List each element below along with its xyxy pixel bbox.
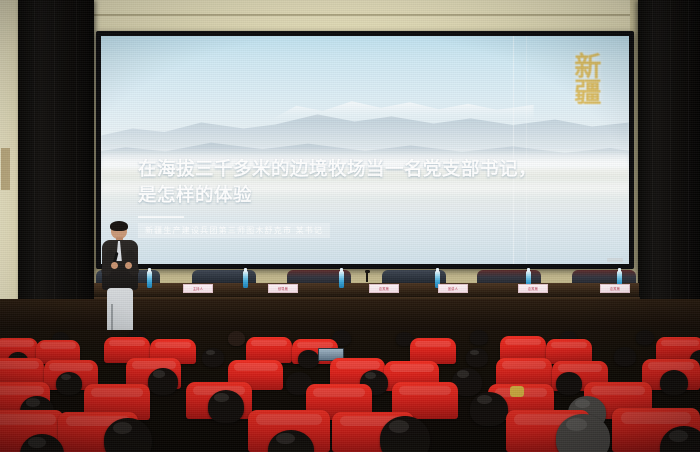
audience-head	[556, 372, 582, 395]
audience-head	[56, 372, 82, 395]
speaker-hair	[110, 221, 128, 231]
speaker-hand-right	[125, 262, 132, 269]
name-placard: 主持人	[183, 284, 213, 293]
speaker-hand-left	[111, 262, 118, 269]
slide-divider-rule	[138, 216, 184, 218]
slide-text-block: 在海拔三千多米的边境牧场当一名党支部书记， 是怎样的体验 新疆生产建设兵团第三师…	[138, 157, 597, 239]
water-bottle	[147, 271, 152, 288]
microphone-icon	[366, 272, 368, 282]
projection-screen: 新疆 在海拔三千多米的边境牧场当一名党支部书记， 是怎样的体验 新疆生产建设兵团…	[101, 36, 629, 264]
name-placard-text: 嘉宾席	[370, 285, 398, 293]
wall-seam	[0, 14, 700, 16]
name-placard: 嘉宾席	[369, 284, 399, 293]
name-placard-text: 宣讲人	[439, 285, 467, 293]
audience-head	[470, 392, 508, 426]
audience-head	[298, 350, 319, 368]
name-placard-text: 嘉宾席	[519, 285, 547, 293]
name-placard: 嘉宾席	[518, 284, 548, 293]
audience-head	[466, 348, 488, 367]
slide-title: 在海拔三千多米的边境牧场当一名党支部书记， 是怎样的体验	[138, 157, 597, 210]
audience-head	[636, 330, 654, 345]
slide-subtitle: 新疆生产建设兵团第三师图木舒克市 某书记	[138, 223, 330, 238]
yellow-bag	[510, 386, 524, 397]
name-placard: 嘉宾席	[600, 284, 630, 293]
audience-head	[614, 347, 636, 366]
snow-cap	[270, 95, 534, 120]
name-placard-text: 嘉宾席	[601, 285, 629, 293]
name-placard-text: 主持人	[184, 285, 212, 293]
water-bottle	[243, 271, 248, 288]
wall-picture-frame	[1, 148, 10, 190]
screen-brand-logo	[607, 258, 623, 262]
stage-curtain-right	[638, 0, 700, 341]
audience-head	[202, 348, 224, 367]
audience-head	[228, 331, 245, 346]
water-bottle	[339, 271, 344, 288]
slide-brand-mark: 新疆	[571, 52, 597, 104]
audience-head	[470, 330, 488, 345]
audience-head	[148, 368, 178, 395]
projection-screen-frame: 新疆 在海拔三千多米的边境牧场当一名党支部书记， 是怎样的体验 新疆生产建设兵团…	[96, 31, 634, 269]
audience-head	[208, 390, 244, 423]
name-placard: 宣讲人	[438, 284, 468, 293]
name-placard: 领导席	[268, 284, 298, 293]
audience-area	[0, 330, 700, 452]
audience-head	[660, 370, 688, 395]
auditorium-photo: 新疆 在海拔三千多米的边境牧场当一名党支部书记， 是怎样的体验 新疆生产建设兵团…	[0, 0, 700, 452]
name-placard-text: 领导席	[269, 285, 297, 293]
stage-curtain-left	[18, 0, 94, 341]
